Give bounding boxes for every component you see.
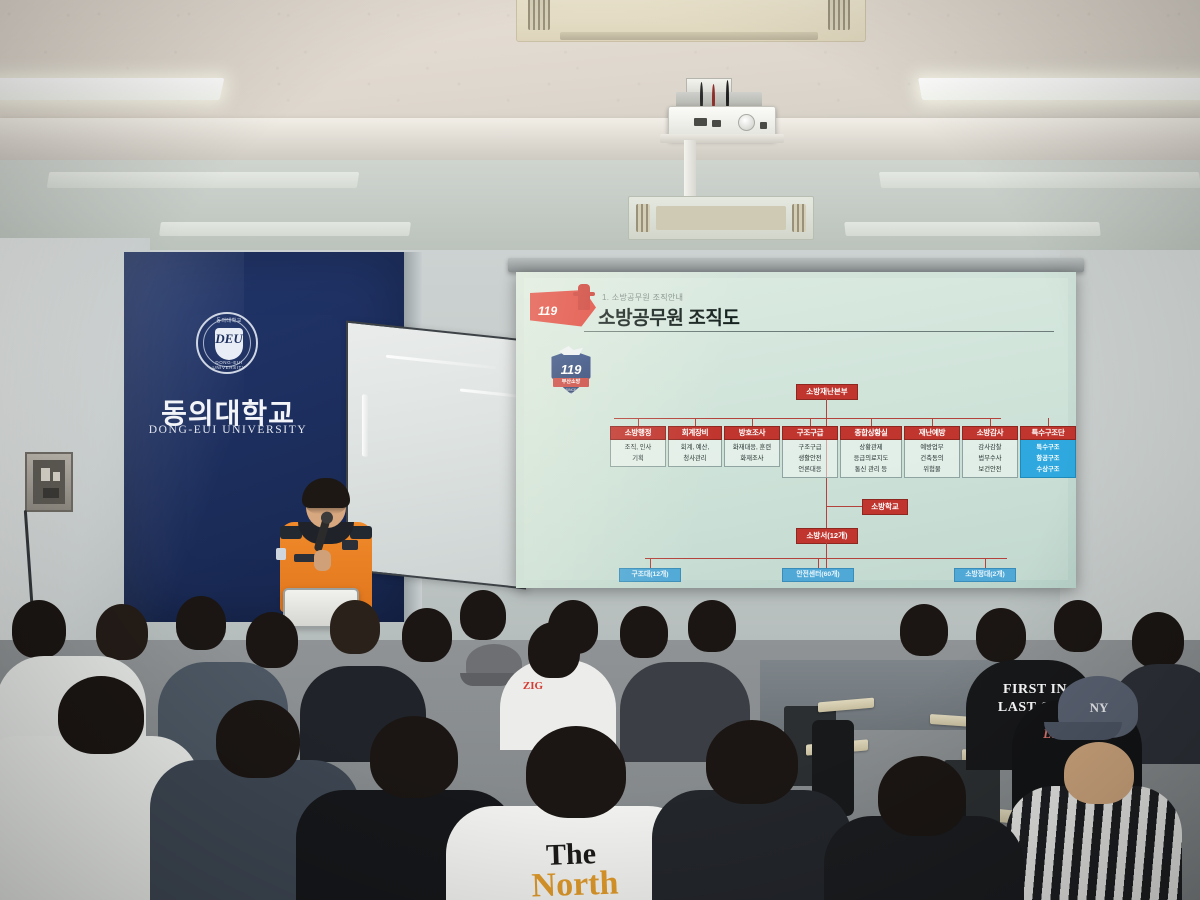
slide-surface: 119 1. 소방공무원 조직안내 소방공무원 조직도 119 부산소방 SIN… (524, 278, 1068, 580)
crest-monogram: DEU (215, 328, 243, 350)
org-division-item: 조직, 인사 (612, 442, 664, 453)
ceiling-light-6 (844, 222, 1100, 236)
org-division-node: 특수구조단특수구조항공구조수상구조 (1020, 426, 1076, 478)
projector-ceiling-plate (660, 134, 784, 143)
org-line-leaf-drop (818, 558, 819, 568)
org-leaf-node: 안전센터(60개) (782, 568, 854, 582)
org-division-node: 회계장비회계, 예산,청사관리 (668, 426, 722, 467)
org-division-item: 기획 (612, 453, 664, 464)
ceiling-light-1 (0, 78, 224, 100)
org-line-drop (638, 418, 639, 426)
org-division-header: 종합상황실 (840, 426, 902, 440)
org-leaf-node: 구조대(12개) (619, 568, 681, 582)
org-division-item: 감사감찰 (964, 442, 1016, 453)
ac-vent-center (560, 32, 818, 40)
speaker-hand (314, 550, 331, 571)
org-side-node: 소방학교 (862, 499, 908, 515)
audience-head (1132, 612, 1184, 668)
org-chart: 소방재난본부 소방행정조직, 인사기획회계장비회계, 예산,청사관리방호조사화재… (524, 278, 1068, 580)
org-division-item: 상황관제 (842, 442, 900, 453)
panel-switch-3 (43, 488, 59, 498)
audience-head-front (878, 756, 966, 836)
audience-shoulders-front (652, 790, 852, 900)
org-division-item: 예방업무 (906, 442, 958, 453)
projector-port-1 (694, 118, 707, 126)
speaker-arm-patch (276, 548, 286, 560)
audience-head (528, 622, 580, 678)
org-division-items: 상황관제응급의료지도통신 관리 등 (840, 440, 902, 478)
org-leaf-node: 소방정대(2개) (954, 568, 1016, 582)
projector-lens-icon (738, 114, 755, 131)
audience-head-front (58, 676, 144, 754)
org-division-item: 보건안전 (964, 464, 1016, 475)
audience-head (176, 596, 226, 650)
audience-head (12, 600, 66, 658)
cap-brim (1044, 722, 1122, 740)
org-division-item: 언론대응 (784, 464, 836, 475)
shirt-text-zig: ZIG (510, 680, 556, 692)
org-division-header: 소방행정 (610, 426, 666, 440)
audience-head (900, 604, 948, 656)
audience-head-front (370, 716, 458, 798)
org-line-leaf-drop (650, 558, 651, 568)
org-division-item: 회계, 예산, (670, 442, 720, 453)
ceiling-light-4 (879, 172, 1200, 188)
ac-vent-left (528, 0, 550, 30)
audience-head (96, 604, 148, 660)
org-division-node: 소방행정조직, 인사기획 (610, 426, 666, 467)
org-division-item: 구조구급 (784, 442, 836, 453)
org-line-bus-stem (826, 398, 827, 418)
org-division-items: 화재대응, 훈련화재조사 (724, 440, 780, 467)
lecture-hall-photo: 동의대학교 DEU DONG-EUI UNIVERSITY 동의대학교 DONG… (0, 0, 1200, 900)
org-division-node: 재난예방예방업무건축동의위험물 (904, 426, 960, 478)
org-division-item: 법무수사 (964, 453, 1016, 464)
ceiling-light-2 (918, 78, 1200, 100)
screen-roller-housing (508, 258, 1084, 272)
whiteboard-glare-3 (362, 394, 368, 457)
org-line-drop (752, 418, 753, 426)
org-division-items: 회계, 예산,청사관리 (668, 440, 722, 467)
ceiling-beam (0, 118, 1200, 160)
projector-port-2 (712, 120, 721, 127)
org-division-header: 소방감사 (962, 426, 1018, 440)
org-line-drop (871, 418, 872, 426)
audience-head (402, 608, 452, 662)
whiteboard-glare-1 (386, 355, 496, 370)
org-division-item: 항공구조 (1022, 453, 1074, 464)
org-line-drop (932, 418, 933, 426)
cap-logo-ny: NY (1082, 700, 1116, 716)
ac-diffuser-vent-right (792, 204, 806, 232)
panel-switch-2 (53, 472, 60, 481)
org-division-items: 구조구급생활안전언론대응 (782, 440, 838, 478)
org-division-item: 청사관리 (670, 453, 720, 464)
audience-head (620, 606, 668, 658)
audience-head (688, 600, 736, 652)
speaker-rank-patch (342, 540, 358, 550)
org-line-drop (1048, 418, 1049, 426)
org-division-item: 특수구조 (1022, 442, 1074, 453)
ceiling-light-3 (47, 172, 360, 188)
org-division-items: 감사감찰법무수사보건안전 (962, 440, 1018, 478)
audience-head (1054, 600, 1102, 652)
speaker-hair (302, 478, 350, 508)
org-division-header: 회계장비 (668, 426, 722, 440)
panel-switch-1 (41, 468, 50, 481)
org-line-leaf-drop (985, 558, 986, 568)
shirt-text-north: North (479, 863, 670, 900)
ac-vent-right (828, 0, 850, 30)
projection-screen: 119 1. 소방공무원 조직안내 소방공무원 조직도 119 부산소방 SIN… (516, 272, 1076, 588)
org-line-bus (614, 418, 1001, 419)
org-division-node: 종합상황실상황관제응급의료지도통신 관리 등 (840, 426, 902, 478)
university-name-en: DONG-EUI UNIVERSITY (148, 424, 308, 436)
org-line-drop (695, 418, 696, 426)
audience-head-front (526, 726, 626, 818)
org-division-node: 방호조사화재대응, 훈련화재조사 (724, 426, 780, 467)
ac-diffuser-vent-left (636, 204, 650, 232)
audience-head (1064, 742, 1134, 804)
projector-port-3 (760, 122, 767, 129)
org-division-header: 특수구조단 (1020, 426, 1076, 440)
org-division-item: 화재대응, 훈련 (726, 442, 778, 453)
speaker-name-patch (294, 554, 316, 562)
wall-electrical-panel (25, 452, 73, 512)
crest-arc-top-text: 동의대학교 (198, 317, 260, 324)
university-crest-icon: 동의대학교 DEU DONG-EUI UNIVERSITY (196, 312, 258, 374)
org-division-header: 구조구급 (782, 426, 838, 440)
org-line-drop (990, 418, 991, 426)
org-line-leaf-stem (826, 542, 827, 558)
crest-arc-bottom-text: DONG-EUI UNIVERSITY (198, 360, 260, 370)
panel-glare (124, 252, 244, 622)
org-line-drop (810, 418, 811, 426)
org-line-side (826, 506, 862, 507)
audience-head (330, 600, 380, 654)
ceiling (0, 0, 1200, 252)
org-division-item: 생활안전 (784, 453, 836, 464)
org-division-header: 재난예방 (904, 426, 960, 440)
audience-head (246, 612, 298, 668)
org-root-node: 소방재난본부 (796, 384, 858, 400)
audience-head (460, 590, 506, 640)
audience-head (976, 608, 1026, 662)
org-division-header: 방호조사 (724, 426, 780, 440)
org-division-items: 특수구조항공구조수상구조 (1020, 440, 1076, 478)
org-mid-node: 소방서(12개) (796, 528, 858, 544)
org-division-items: 조직, 인사기획 (610, 440, 666, 467)
org-division-node: 소방감사감사감찰법무수사보건안전 (962, 426, 1018, 478)
org-division-items: 예방업무건축동의위험물 (904, 440, 960, 478)
org-division-item: 건축동의 (906, 453, 958, 464)
audience-head-front (216, 700, 300, 778)
org-division-item: 수상구조 (1022, 464, 1074, 475)
org-division-item: 응급의료지도 (842, 453, 900, 464)
org-line-leaf-bus (645, 558, 1007, 559)
org-division-item: 통신 관리 등 (842, 464, 900, 475)
ceiling-light-5 (159, 222, 411, 236)
audience-head-front (706, 720, 798, 804)
speaker-shoulder-right (350, 526, 372, 539)
crest-shield: DEU (215, 328, 243, 360)
org-division-node: 구조구급구조구급생활안전언론대응 (782, 426, 838, 478)
org-division-item: 화재조사 (726, 453, 778, 464)
ac-diffuser-face (656, 206, 786, 230)
org-division-item: 위험물 (906, 464, 958, 475)
